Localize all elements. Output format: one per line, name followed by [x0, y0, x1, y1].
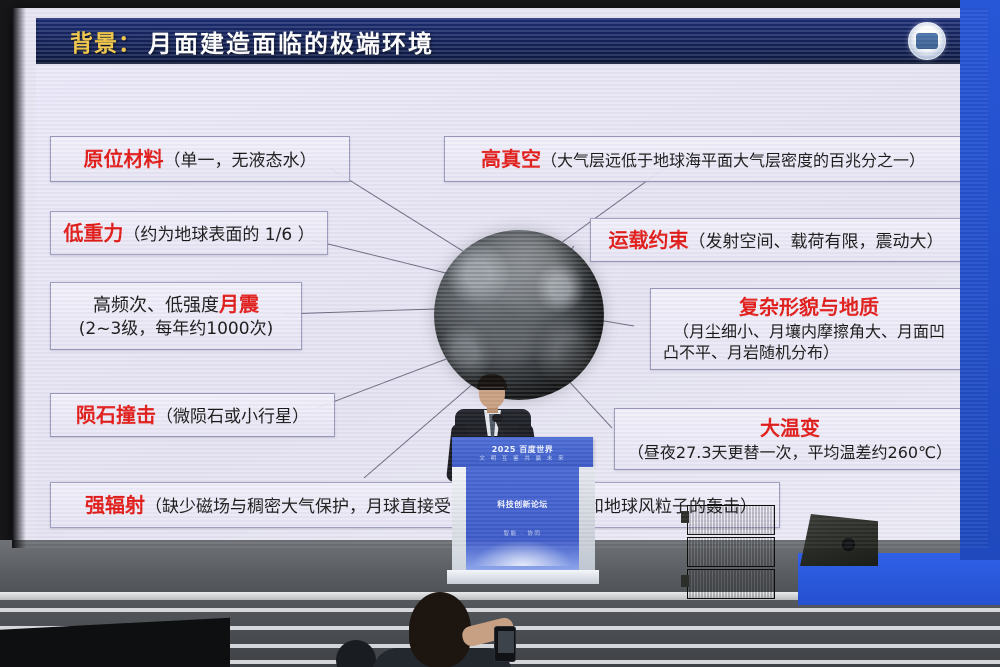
seal-emblem-icon: [916, 33, 938, 49]
callout-thermal-variation: 大温变 （昼夜27.3天更替一次，平均温差约260℃）: [614, 408, 966, 470]
callout-low-gravity-keyword: 低重力: [63, 221, 123, 245]
callout-high-vacuum: 高真空（大气层远低于地球海平面大气层密度的百兆分之一）: [444, 136, 962, 182]
audience-smartphone: [494, 626, 516, 662]
callout-isru: 原位材料（单一，无液态水）: [50, 136, 350, 182]
audience-member-head: [409, 592, 471, 667]
callout-complex-terrain-keyword: 复杂形貌与地质: [739, 295, 879, 319]
speaker-rigging-ear: [681, 575, 689, 587]
callout-high-vacuum-detail: （大气层远低于地球海平面大气层密度的百兆分之一）: [541, 151, 925, 170]
podium-brand-mark: 科技创新论坛: [466, 499, 579, 510]
callout-launch-constraint-keyword: 运载约束: [609, 228, 689, 252]
monitor-driver-icon: [842, 538, 855, 551]
callout-high-vacuum-keyword: 高真空: [481, 147, 541, 171]
callout-low-gravity-detail: （约为地球表面的 1/6 ）: [123, 225, 314, 245]
moon-sphere-graphic: [434, 230, 604, 400]
slide-title-text: 月面建造面临的极端环境: [148, 24, 434, 59]
stage-monitor-wedge: [800, 514, 878, 566]
podium-tagline: 智能 · 协同: [466, 529, 579, 537]
stage-blue-side-wall: [960, 0, 1000, 560]
callout-isru-detail: （单一，无液态水）: [164, 151, 317, 171]
microphone-head-icon: [492, 414, 503, 422]
university-seal-icon: [908, 22, 946, 60]
speaker-rigging-ear: [681, 511, 689, 523]
line-array-speaker-stack: [687, 505, 775, 600]
podium-front-panel: 科技创新论坛 智能 · 协同: [466, 467, 579, 570]
callout-complex-terrain-detail-line2: 凸不平、月岩随机分布）: [663, 343, 839, 362]
callout-thermal-variation-detail: （昼夜27.3天更替一次，平均温差约260℃）: [628, 443, 952, 462]
callout-launch-constraint-detail: （发射空间、载荷有限，震动大）: [689, 232, 944, 252]
callout-meteorite-impact: 陨石撞击（微陨石或小行星）: [50, 393, 335, 437]
riser-light-strip: [0, 608, 1000, 612]
callout-moonquake-detail: (2~3级，每年约1000次): [79, 319, 273, 339]
callout-isru-keyword: 原位材料: [84, 147, 164, 171]
speaker-cabinet: [687, 505, 775, 535]
callout-meteorite-impact-detail: （微陨石或小行星）: [156, 407, 309, 427]
slide-title-label: 背景：: [70, 24, 142, 58]
speaker-cabinet: [687, 537, 775, 567]
callout-moonquake-lead: 高频次、低强度: [93, 295, 219, 316]
callout-strong-radiation-keyword: 强辐射: [85, 493, 145, 517]
venue-photo: 背景： 月面建造面临的极端环境 原位: [0, 0, 1000, 667]
callout-complex-terrain: 复杂形貌与地质 （月尘细小、月壤内摩擦角大、月面凹 凸不平、月岩随机分布）: [650, 288, 968, 370]
callout-strong-radiation: 强辐射（缺少磁场与稠密大气保护，月球直接受宇宙射线、太阳风和地球风粒子的轰击）: [50, 482, 780, 528]
callout-complex-terrain-detail-line1: （月尘细小、月壤内摩擦角大、月面凹: [673, 322, 945, 341]
callout-low-gravity: 低重力（约为地球表面的 1/6 ）: [50, 211, 328, 255]
callout-thermal-variation-keyword: 大温变: [760, 416, 820, 440]
callout-moonquake: 高频次、低强度月震 (2~3级，每年约1000次): [50, 282, 302, 350]
callout-launch-constraint: 运载约束（发射空间、载荷有限，震动大）: [590, 218, 962, 262]
podium-top-subtitle: 文 明 互 鉴 共 赢 未 来: [452, 454, 593, 462]
speaker-cabinet: [687, 569, 775, 599]
callout-moonquake-keyword: 月震: [219, 292, 259, 316]
callout-strong-radiation-detail: （缺少磁场与稠密大气保护，月球直接受宇宙射线、太阳风和地球风粒子的轰击）: [145, 497, 757, 517]
podium-base: [447, 570, 599, 584]
callout-meteorite-impact-keyword: 陨石撞击: [76, 403, 156, 427]
podium-top-panel: 2025 百度世界 文 明 互 鉴 共 赢 未 来: [452, 437, 593, 467]
presenter-glasses-icon: [480, 387, 504, 392]
podium-right-side: [579, 467, 595, 575]
